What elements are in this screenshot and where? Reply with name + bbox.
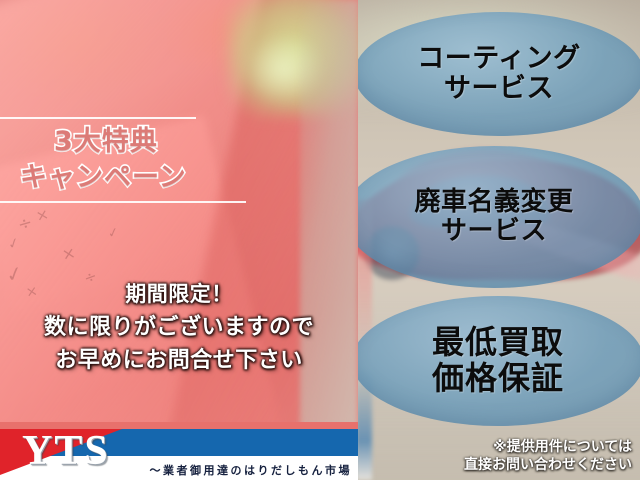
headline-rule-top (0, 117, 196, 119)
logo-tagline: 〜業者御用達のはりだしもん市場 (150, 462, 353, 478)
disclaimer-line-1: ※提供用件については (464, 438, 632, 456)
limited-notice-line-2: 数に限りがございますので (0, 311, 358, 344)
service-badge-line-1: 最低買取 (432, 325, 564, 361)
left-promo-panel: ÷ × ✓ × ✓ ÷ × ✓ 3大特典 キャンペーン 期間限定！ 数に限りがご… (0, 0, 358, 480)
service-badge-line-1: コーティング (417, 44, 580, 74)
service-badge-line-2: 価格保証 (432, 361, 564, 397)
disclaimer-line-2: 直接お問い合わせください (464, 456, 632, 474)
service-badge-coating[interactable]: コーティング サービス (358, 12, 640, 136)
limited-notice-line-3: お早めにお問合せ下さい (0, 344, 358, 377)
service-badge-line-2: サービス (441, 217, 547, 246)
logo-wordmark: YTS (22, 430, 110, 472)
promo-banner: ÷ × ✓ × ✓ ÷ × ✓ 3大特典 キャンペーン 期間限定！ 数に限りがご… (0, 0, 640, 480)
right-service-panel: コーティング サービス 廃車名義変更 サービス 最低買取 価格保証 ※提供用件に… (358, 0, 640, 480)
limited-notice-line-1: 期間限定！ (0, 278, 358, 311)
headline-line-1: 3大特典 (14, 124, 344, 160)
disclaimer-note: ※提供用件については 直接お問い合わせください (464, 438, 632, 474)
company-logo: YTS 〜業者御用達のはりだしもん市場 (0, 422, 358, 480)
limited-time-notice: 期間限定！ 数に限りがございますので お早めにお問合せ下さい (0, 278, 358, 377)
headline-rule-bottom (0, 201, 246, 203)
service-badge-line-1: 廃車名義変更 (414, 188, 573, 217)
campaign-headline: 3大特典 キャンペーン (14, 124, 344, 196)
service-badge-line-2: サービス (444, 74, 554, 104)
service-badge-ownership-transfer[interactable]: 廃車名義変更 サービス (358, 146, 640, 288)
headline-line-2: キャンペーン (14, 160, 344, 196)
service-badge-price-guarantee[interactable]: 最低買取 価格保証 (358, 296, 640, 426)
blurred-wall-edge (300, 0, 358, 480)
